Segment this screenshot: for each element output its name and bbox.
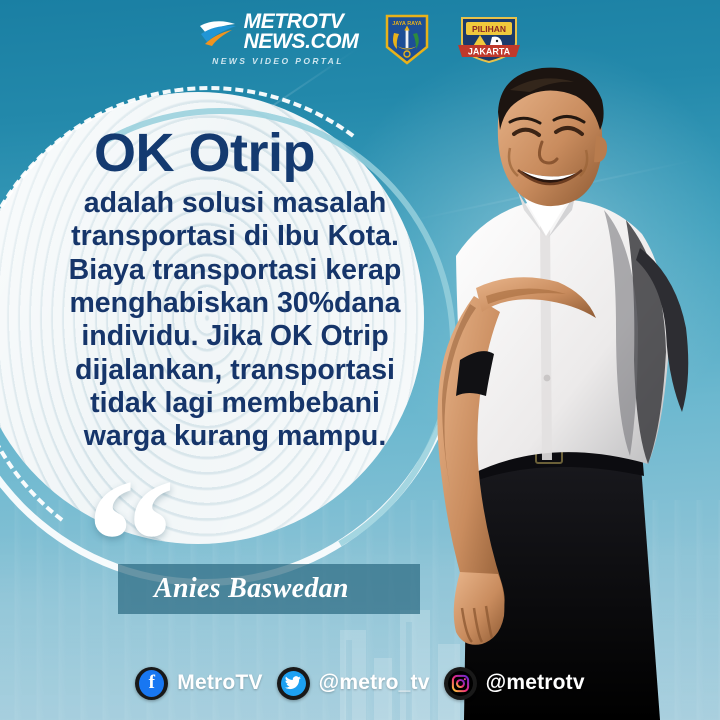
social-bar: f MetroTV @metro_tv	[0, 660, 720, 706]
anies-baswedan-portrait	[390, 60, 720, 720]
brand-tagline: NEWS VIDEO PORTAL	[212, 56, 344, 66]
instagram-icon[interactable]	[444, 667, 477, 700]
metrotvnews-logo[interactable]: METROTV NEWS.COM NEWS VIDEO PORTAL	[198, 12, 359, 67]
badge-top-label: PILIHAN	[472, 24, 506, 34]
social-item-facebook[interactable]: f MetroTV	[135, 667, 262, 700]
twitter-handle: @metro_tv	[319, 671, 430, 695]
pilihan-jakarta-badge-icon[interactable]: PILIHAN JAKARTA	[456, 13, 522, 65]
instagram-glyph	[448, 671, 473, 696]
twitter-glyph	[281, 671, 306, 696]
facebook-icon[interactable]: f	[135, 667, 168, 700]
quote-block: OK Otrip adalah solusi masalah transport…	[56, 126, 414, 454]
brand-line-2: NEWS.COM	[244, 32, 359, 52]
quote-line: dijalankan, transportasi	[56, 354, 414, 387]
jakarta-provincial-emblem-icon[interactable]: JAYA RAYA	[384, 13, 430, 65]
instagram-handle: @metrotv	[486, 671, 585, 695]
quote-line: tidak lagi membebani	[56, 387, 414, 420]
twitter-icon[interactable]	[277, 667, 310, 700]
quote-line: transportasi di Ibu Kota.	[56, 220, 414, 253]
quote-line: individu. Jika OK Otrip	[56, 320, 414, 353]
poster-canvas: METROTV NEWS.COM NEWS VIDEO PORTAL JAYA …	[0, 0, 720, 720]
badge-bottom-label: JAKARTA	[468, 47, 511, 57]
social-item-instagram[interactable]: @metrotv	[444, 667, 585, 700]
quote-line: adalah solusi masalah	[56, 187, 414, 220]
facebook-glyph: f	[139, 670, 164, 697]
metrotv-swoosh-icon	[198, 17, 238, 47]
header-logo-bar: METROTV NEWS.COM NEWS VIDEO PORTAL JAYA …	[0, 8, 720, 70]
quote-headline: OK Otrip	[94, 126, 414, 181]
twitter-bird-icon	[285, 676, 301, 690]
attribution-banner: Anies Baswedan	[118, 564, 420, 614]
quote-line: Biaya transportasi kerap	[56, 254, 414, 287]
quote-line: menghabiskan 30%dana	[56, 287, 414, 320]
facebook-handle: MetroTV	[177, 671, 262, 695]
attribution-name: Anies Baswedan	[154, 573, 349, 605]
instagram-camera-icon	[451, 674, 470, 693]
quote-body: adalah solusi masalah transportasi di Ib…	[56, 187, 414, 454]
brand-line-1: METROTV	[244, 12, 359, 32]
social-item-twitter[interactable]: @metro_tv	[277, 667, 430, 700]
